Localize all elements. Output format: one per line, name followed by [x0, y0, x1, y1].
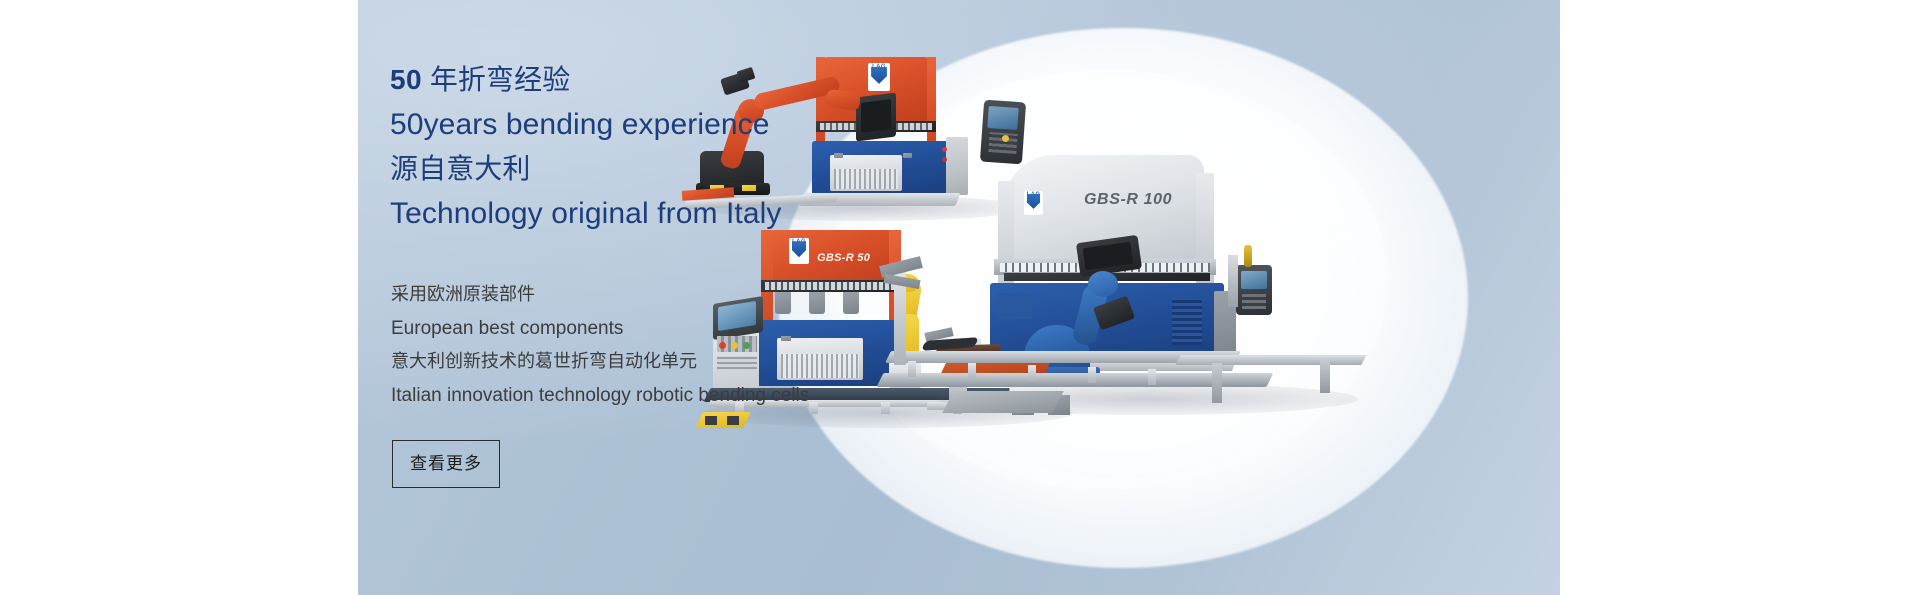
lag-logo-badge: LAG [1024, 191, 1043, 215]
headline-line-4: Technology original from Italy [390, 192, 950, 237]
headline-line-1-rest: 年折弯经验 [422, 64, 570, 95]
subcopy-block: 采用欧洲原装部件 European best components 意大利创新技… [391, 278, 951, 412]
hero-copy: 50 年折弯经验 50years bending experience 源自意大… [390, 0, 950, 595]
headline-line-2: 50years bending experience [390, 103, 950, 148]
headline-years-number: 50 [390, 64, 422, 95]
subcopy-line-4: Italian innovation technology robotic be… [391, 379, 951, 413]
subcopy-line-1: 采用欧洲原装部件 [391, 278, 951, 312]
subcopy-line-3: 意大利创新技术的葛世折弯自动化单元 [391, 345, 951, 379]
headline-line-1: 50 年折弯经验 [390, 58, 950, 103]
machine-gbs-r-100: LAG GBS-R 100 [928, 155, 1358, 415]
subcopy-line-2: European best components [391, 312, 951, 346]
headline-line-3: 源自意大利 [390, 147, 950, 192]
hero-banner: LAG [358, 0, 1560, 595]
machine-model-label: GBS-R 100 [1084, 191, 1172, 209]
page-root: LAG [0, 0, 1920, 595]
headline-block: 50 年折弯经验 50years bending experience 源自意大… [390, 58, 950, 236]
view-more-button[interactable]: 查看更多 [392, 440, 500, 488]
